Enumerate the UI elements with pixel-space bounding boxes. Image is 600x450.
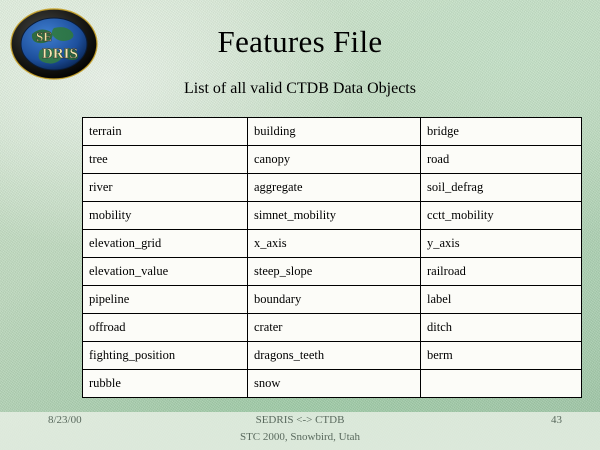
table-cell: pipeline xyxy=(83,286,248,314)
table-cell: elevation_value xyxy=(83,258,248,286)
table-cell: canopy xyxy=(248,146,421,174)
table-cell: tree xyxy=(83,146,248,174)
table-cell: bridge xyxy=(421,118,582,146)
table-cell: steep_slope xyxy=(248,258,421,286)
page-subtitle: List of all valid CTDB Data Objects xyxy=(0,80,600,98)
svg-text:DRIS: DRIS xyxy=(42,46,78,62)
table-row: pipeline boundary label xyxy=(83,286,582,314)
table-cell: snow xyxy=(248,370,421,398)
table-cell: rubble xyxy=(83,370,248,398)
table-cell: river xyxy=(83,174,248,202)
table-row: elevation_grid x_axis y_axis xyxy=(83,230,582,258)
slide-canvas: SE DRIS Features File List of all valid … xyxy=(0,0,600,450)
table-cell: label xyxy=(421,286,582,314)
footer-event: STC 2000, Snowbird, Utah xyxy=(0,431,600,443)
table-cell xyxy=(421,370,582,398)
table-cell: y_axis xyxy=(421,230,582,258)
table-row: elevation_value steep_slope railroad xyxy=(83,258,582,286)
features-table-container: terrain building bridge tree canopy road… xyxy=(82,117,560,398)
table-cell: fighting_position xyxy=(83,342,248,370)
table-cell: simnet_mobility xyxy=(248,202,421,230)
table-cell: elevation_grid xyxy=(83,230,248,258)
table-cell: crater xyxy=(248,314,421,342)
table-cell: mobility xyxy=(83,202,248,230)
table-cell: berm xyxy=(421,342,582,370)
table-cell: road xyxy=(421,146,582,174)
table-cell: soil_defrag xyxy=(421,174,582,202)
table-row: rubble snow xyxy=(83,370,582,398)
table-row: fighting_position dragons_teeth berm xyxy=(83,342,582,370)
table-cell: x_axis xyxy=(248,230,421,258)
table-cell: dragons_teeth xyxy=(248,342,421,370)
table-cell: aggregate xyxy=(248,174,421,202)
table-row: offroad crater ditch xyxy=(83,314,582,342)
features-table: terrain building bridge tree canopy road… xyxy=(82,117,582,398)
table-row: river aggregate soil_defrag xyxy=(83,174,582,202)
svg-text:SE: SE xyxy=(36,29,52,44)
table-cell: ditch xyxy=(421,314,582,342)
table-cell: cctt_mobility xyxy=(421,202,582,230)
table-cell: offroad xyxy=(83,314,248,342)
table-cell: boundary xyxy=(248,286,421,314)
footer-page-number: 43 xyxy=(551,414,562,426)
table-cell: railroad xyxy=(421,258,582,286)
table-row: mobility simnet_mobility cctt_mobility xyxy=(83,202,582,230)
sedris-globe-logo: SE DRIS xyxy=(10,8,98,80)
table-cell: building xyxy=(248,118,421,146)
table-row: tree canopy road xyxy=(83,146,582,174)
table-row: terrain building bridge xyxy=(83,118,582,146)
table-cell: terrain xyxy=(83,118,248,146)
footer-title: SEDRIS <-> CTDB xyxy=(0,414,600,426)
